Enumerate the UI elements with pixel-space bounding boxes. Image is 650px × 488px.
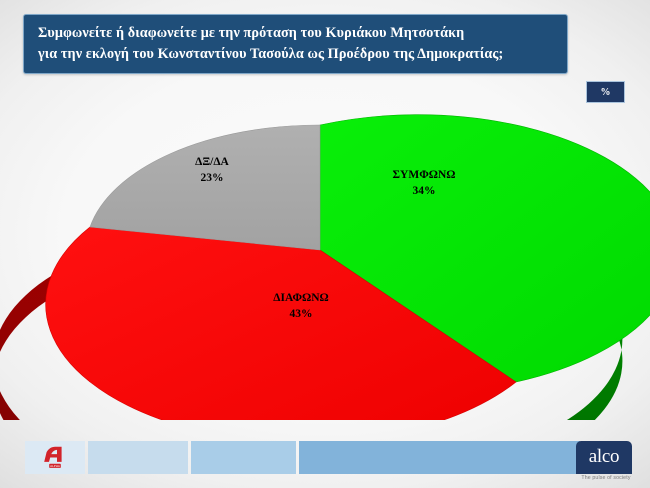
pie-label-agree-name: ΣΥΜΦΩΝΩ bbox=[393, 169, 456, 181]
alpha-a-icon: ALPHA bbox=[42, 445, 68, 470]
poll-result-slide: Συμφωνείτε ή διαφωνείτε με την πρόταση τ… bbox=[0, 0, 650, 488]
pie-label-dontknow-name: ΔΞ/ΔΑ bbox=[195, 156, 229, 168]
footer-bar-strip: ALPHA bbox=[25, 441, 580, 474]
pie-label-agree-value: 34% bbox=[413, 185, 436, 197]
footer-bar-2 bbox=[191, 441, 296, 474]
pollster-logo: alco bbox=[576, 441, 632, 474]
footer-bar-1 bbox=[88, 441, 188, 474]
pollster-logo-text: alco bbox=[589, 447, 619, 468]
svg-text:ALPHA: ALPHA bbox=[50, 464, 60, 468]
pie-label-disagree-value: 43% bbox=[290, 308, 313, 320]
question-title-banner: Συμφωνείτε ή διαφωνείτε με την πρόταση τ… bbox=[23, 14, 568, 74]
pie-label-dontknow-value: 23% bbox=[201, 172, 224, 184]
pie-chart: ΣΥΜΦΩΝΩ 34% ΔΙΑΦΩΝΩ 43% ΔΞ/ΔΑ 23% bbox=[0, 95, 650, 420]
pie-label-disagree-name: ΔΙΑΦΩΝΩ bbox=[273, 292, 328, 304]
question-title-line-2: για την εκλογή του Κωνσταντίνου Τασούλα … bbox=[38, 44, 553, 65]
pie-chart-svg: ΣΥΜΦΩΝΩ 34% ΔΙΑΦΩΝΩ 43% ΔΞ/ΔΑ 23% bbox=[0, 95, 650, 420]
question-title-line-1: Συμφωνείτε ή διαφωνείτε με την πρόταση τ… bbox=[38, 23, 553, 44]
footer: ALPHA alco The pulse of society bbox=[0, 428, 650, 488]
footer-bar-3 bbox=[299, 441, 580, 474]
broadcaster-logo-cell: ALPHA bbox=[25, 441, 85, 474]
pollster-tagline: The pulse of society bbox=[576, 475, 636, 481]
